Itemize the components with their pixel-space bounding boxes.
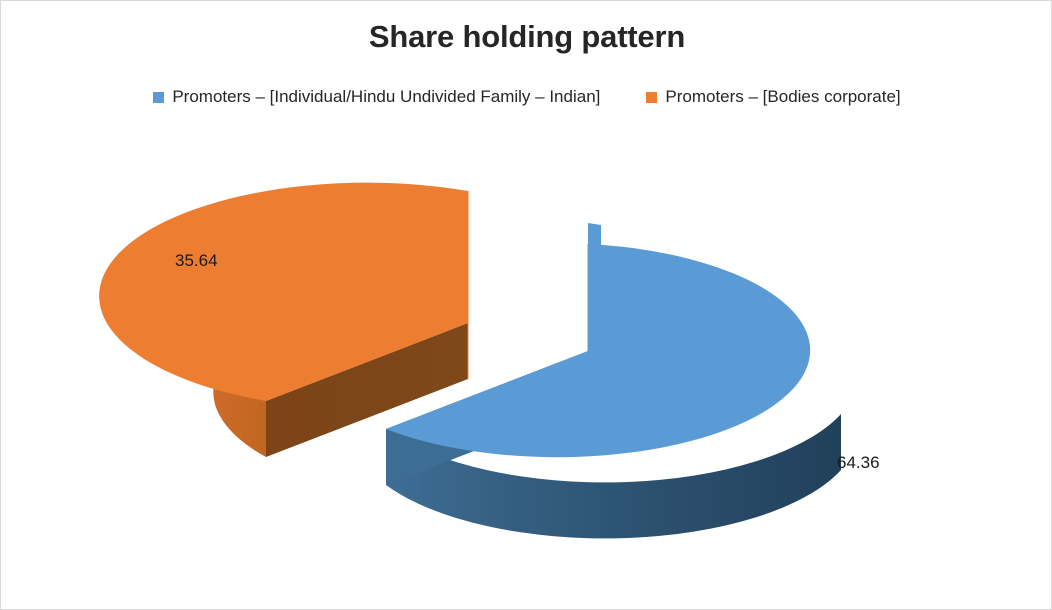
pie-chart-plot: [1, 1, 1052, 610]
data-label-orange: 35.64: [175, 251, 218, 271]
pie-slice-promoters-bodies-corporate[interactable]: [99, 183, 468, 457]
chart-container: Share holding pattern Promoters – [Indiv…: [0, 0, 1052, 610]
data-label-blue: 64.36: [837, 453, 880, 473]
pie-slice-blue-cut-wall: [588, 223, 601, 351]
